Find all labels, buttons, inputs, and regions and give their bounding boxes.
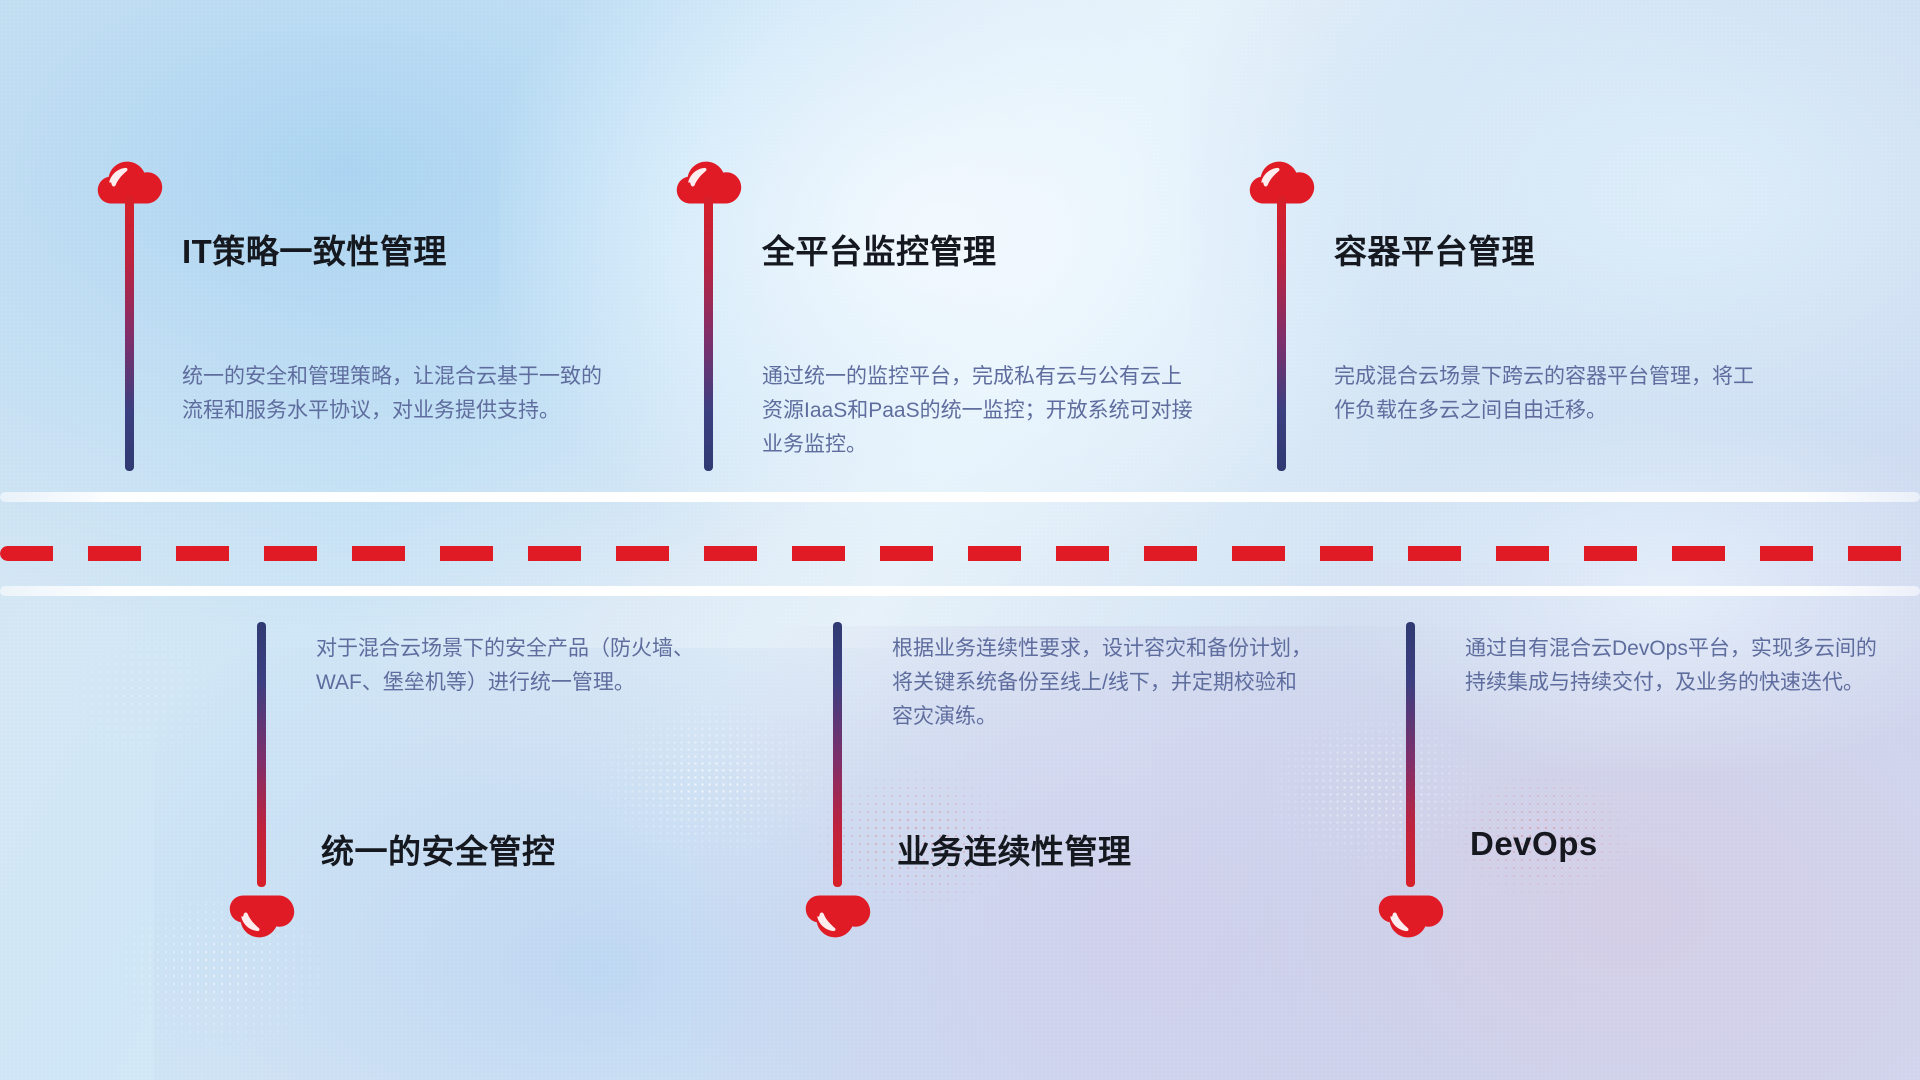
card-body: 通过自有混合云DevOps平台，实现多云间的持续集成与持续交付，及业务的快速迭代… — [1465, 632, 1885, 700]
connector-bar — [125, 196, 134, 471]
card-body: 对于混合云场景下的安全产品（防火墙、WAF、堡垒机等）进行统一管理。 — [316, 632, 736, 700]
connector-bar — [704, 196, 713, 471]
infographic-canvas: IT策略一致性管理 统一的安全和管理策略，让混合云基于一致的流程和服务水平协议，… — [0, 0, 1920, 1080]
divider-white-bottom — [0, 586, 1920, 596]
divider-dashed-red — [0, 546, 1920, 561]
card-title: 全平台监控管理 — [762, 225, 997, 273]
cloud-icon — [805, 895, 871, 939]
connector-bar — [257, 622, 266, 887]
card-title: 容器平台管理 — [1334, 225, 1535, 273]
card-body: 统一的安全和管理策略，让混合云基于一致的流程和服务水平协议，对业务提供支持。 — [182, 360, 612, 428]
connector-bar — [833, 622, 842, 887]
divider-white-top — [0, 492, 1920, 502]
cloud-icon — [229, 895, 295, 939]
card-body: 通过统一的监控平台，完成私有云与公有云上资源IaaS和PaaS的统一监控；开放系… — [762, 360, 1202, 462]
connector-bar — [1277, 196, 1286, 471]
connector-bar — [1406, 622, 1415, 887]
card-body: 根据业务连续性要求，设计容灾和备份计划，将关键系统备份至线上/线下，并定期校验和… — [892, 632, 1312, 734]
card-title: DevOps — [1470, 825, 1598, 863]
card-title: 统一的安全管控 — [321, 825, 556, 873]
card-body: 完成混合云场景下跨云的容器平台管理，将工作负载在多云之间自由迁移。 — [1334, 360, 1754, 428]
cloud-icon — [1378, 895, 1444, 939]
card-title: 业务连续性管理 — [897, 825, 1132, 873]
card-title: IT策略一致性管理 — [182, 225, 447, 273]
